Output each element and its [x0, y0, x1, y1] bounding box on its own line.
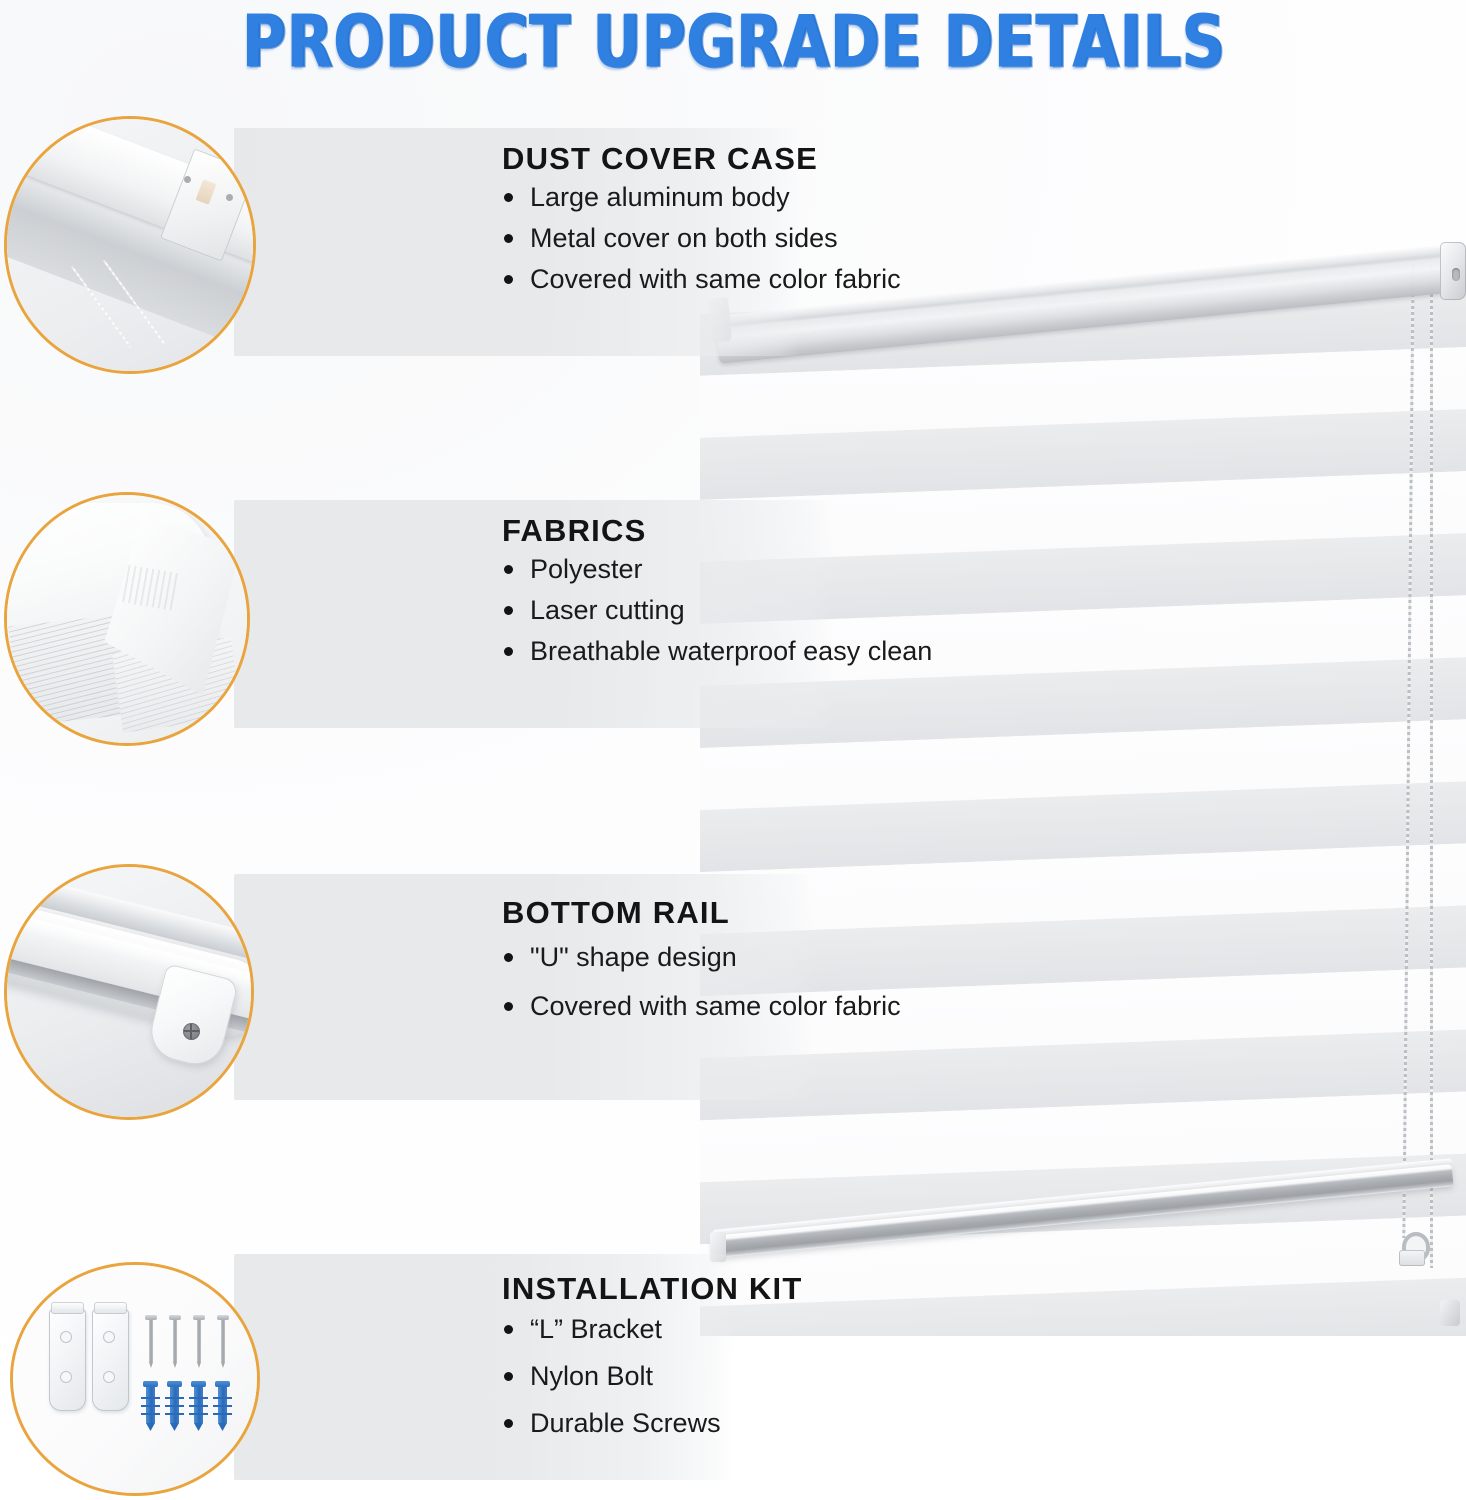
list-item-label: Covered with same color fabric	[530, 264, 901, 294]
list-item: Metal cover on both sides	[502, 225, 800, 252]
list-item: Laser cutting	[502, 597, 834, 624]
bullet-dot-icon	[504, 1419, 513, 1428]
list-item: Polyester	[502, 556, 834, 583]
bullet-dot-icon	[504, 647, 513, 656]
bullet-dot-icon	[504, 953, 513, 962]
list-item: "U" shape design	[502, 944, 814, 971]
nylon-anchor-icon	[167, 1381, 182, 1431]
header: PRODUCT UPGRADE DETAILS	[0, 0, 1466, 82]
bullet-dot-icon	[504, 1372, 513, 1381]
list-item-label: Covered with same color fabric	[530, 991, 901, 1021]
text-panel: FABRICS Polyester Laser cutting Breathab…	[234, 500, 834, 728]
list-item: Large aluminum body	[502, 184, 800, 211]
text-panel: BOTTOM RAIL "U" shape design Covered wit…	[234, 874, 814, 1100]
list-item: Nylon Bolt	[502, 1363, 734, 1390]
l-bracket-icon	[92, 1309, 129, 1411]
list-item-label: Laser cutting	[530, 595, 685, 625]
bottom-rail-macro-photo	[4, 864, 254, 1120]
list-item: Durable Screws	[502, 1410, 734, 1437]
bullet-dot-icon	[504, 193, 513, 202]
blind-bottom-rail	[704, 1214, 1466, 1334]
list-item: Covered with same color fabric	[502, 266, 800, 293]
installation-kit-photo	[10, 1262, 260, 1496]
list-item: Covered with same color fabric	[502, 993, 814, 1020]
list-item-label: Nylon Bolt	[530, 1361, 653, 1391]
list-item-label: "U" shape design	[530, 942, 737, 972]
list-item-label: Breathable waterproof easy clean	[530, 636, 932, 666]
l-bracket-icon	[49, 1309, 86, 1411]
list-item-label: Large aluminum body	[530, 182, 790, 212]
nylon-anchor-icon	[215, 1381, 230, 1431]
text-panel: INSTALLATION KIT “L” Bracket Nylon Bolt …	[234, 1254, 734, 1480]
list-item: Breathable waterproof easy clean	[502, 638, 834, 665]
bullet-dot-icon	[504, 1325, 513, 1334]
list-item-label: Metal cover on both sides	[530, 223, 838, 253]
section-title: FABRICS	[502, 514, 834, 548]
chain-port-icon	[1452, 268, 1460, 281]
bullet-dot-icon	[504, 275, 513, 284]
list-item-label: Durable Screws	[530, 1408, 721, 1438]
headrail-right-endcap	[1440, 242, 1466, 300]
section-title: BOTTOM RAIL	[502, 896, 814, 930]
bottom-rail-right-endcap	[1440, 1300, 1460, 1326]
infographic-canvas: PRODUCT UPGRADE DETAILS	[0, 0, 1466, 1500]
page-title: PRODUCT UPGRADE DETAILS	[241, 0, 1224, 83]
bullet-dot-icon	[504, 1002, 513, 1011]
list-item: “L” Bracket	[502, 1316, 734, 1343]
nylon-anchor-icon	[143, 1381, 158, 1431]
bullet-dot-icon	[504, 234, 513, 243]
fabric-macro-photo	[4, 492, 250, 746]
list-item-label: “L” Bracket	[530, 1314, 662, 1344]
section-title: DUST COVER CASE	[502, 142, 800, 176]
bullet-dot-icon	[504, 565, 513, 574]
feature-list: "U" shape design Covered with same color…	[502, 944, 814, 1020]
bullet-dot-icon	[504, 606, 513, 615]
feature-list: “L” Bracket Nylon Bolt Durable Screws	[502, 1316, 734, 1437]
list-item-label: Polyester	[530, 554, 643, 584]
headrail-macro-photo	[4, 116, 256, 374]
bead-chain-strand[interactable]	[1430, 258, 1433, 1268]
nylon-anchor-icon	[191, 1381, 206, 1431]
zebra-roller-blind-illustration	[700, 196, 1466, 1336]
section-title: INSTALLATION KIT	[502, 1272, 734, 1306]
feature-list: Polyester Laser cutting Breathable water…	[502, 556, 834, 665]
feature-list: Large aluminum body Metal cover on both …	[502, 184, 800, 293]
text-panel: DUST COVER CASE Large aluminum body Meta…	[234, 128, 800, 356]
